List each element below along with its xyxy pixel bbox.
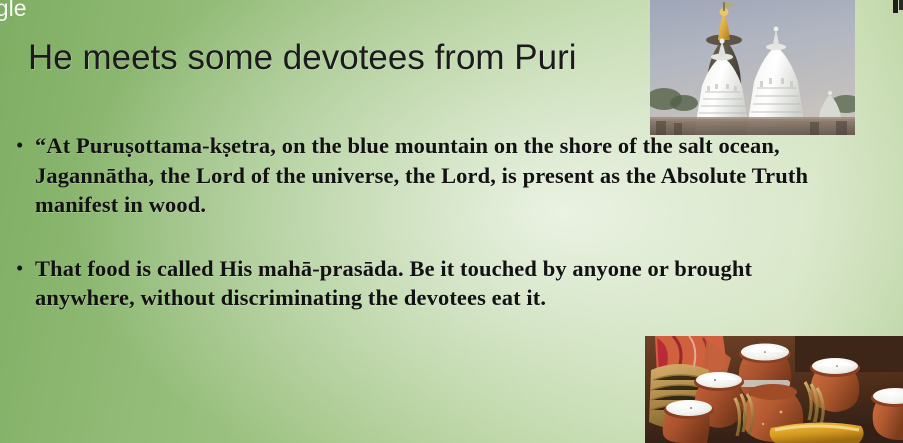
maha-prasada-photo bbox=[645, 336, 903, 443]
bullet-marker-icon: • bbox=[16, 254, 35, 284]
temple-illustration bbox=[650, 0, 855, 135]
bullet-text: “At Puruṣottama-kṣetra, on the blue moun… bbox=[35, 131, 846, 220]
list-item: • That food is called His mahā-prasāda. … bbox=[16, 254, 846, 313]
jagannath-temple-photo bbox=[650, 0, 855, 135]
list-item: • “At Puruṣottama-kṣetra, on the blue mo… bbox=[16, 131, 846, 220]
prasada-illustration bbox=[645, 336, 903, 443]
edge-artifact-icon bbox=[893, 0, 898, 13]
google-watermark: ogle bbox=[0, 0, 26, 20]
page-title: He meets some devotees from Puri bbox=[28, 39, 577, 78]
bullet-marker-icon: • bbox=[16, 131, 35, 161]
presentation-slide: ogle He meets some devotees from Puri • … bbox=[0, 0, 903, 443]
slide-body: • “At Puruṣottama-kṣetra, on the blue mo… bbox=[16, 131, 846, 347]
edge-artifact-secondary-icon bbox=[899, 0, 903, 10]
bullet-text: That food is called His mahā-prasāda. Be… bbox=[35, 254, 825, 313]
